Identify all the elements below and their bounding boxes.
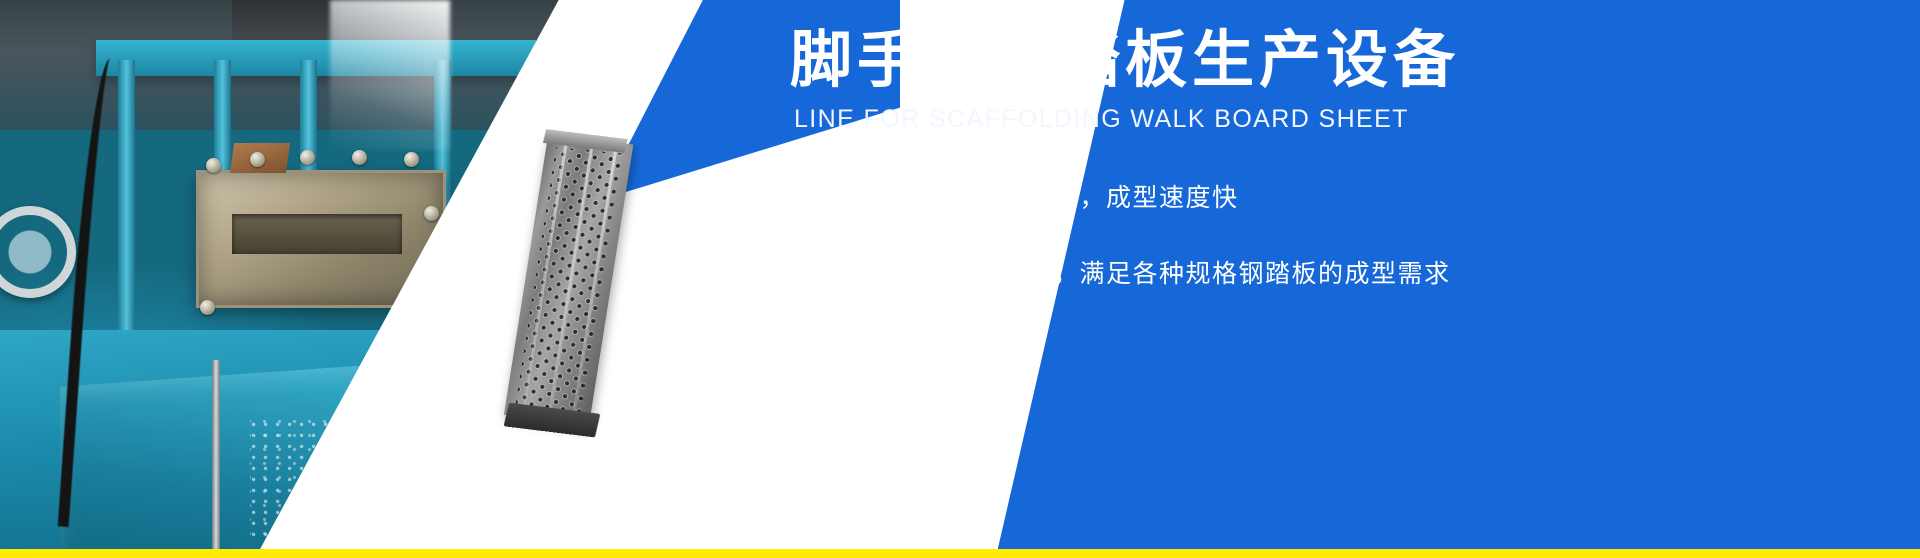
feature-text: 按照客户需求定制，满足各种规格钢踏板的成型需求 [841,254,1451,290]
machine-bolt [250,152,265,167]
square-outline-icon [794,185,817,208]
machine-die-slot [232,214,402,254]
learn-more-label: 点击了解 [834,359,950,389]
machine-bolt [352,150,367,165]
feature-item: 稳定性好，精密度高，成型速度快 [794,178,1870,214]
machine-light-glare [330,0,450,150]
accent-strip [0,549,1920,558]
banner-content: 脚手架钢踏板生产设备 LINE FOR SCAFFOLDING WALK BOA… [790,26,1870,391]
machine-bolt [300,150,315,165]
feature-item: 按照客户需求定制，满足各种规格钢踏板的成型需求 [794,254,1870,290]
learn-more-link[interactable]: 点击了解> > [834,352,1017,391]
promo-banner: 脚手架钢踏板生产设备 LINE FOR SCAFFOLDING WALK BOA… [0,0,1920,558]
arrow-right-icon: > > [960,359,1017,389]
square-outline-icon [794,261,817,284]
banner-title: 脚手架钢踏板生产设备 [790,26,1870,95]
machine-bolt [404,152,419,167]
machine-bolt [200,300,215,315]
machine-bolt [424,206,439,221]
machine-bolt [206,158,221,173]
banner-subtitle: LINE FOR SCAFFOLDING WALK BOARD SHEET [794,105,1870,134]
machine-post [118,60,135,360]
feature-list: 稳定性好，精密度高，成型速度快 按照客户需求定制，满足各种规格钢踏板的成型需求 [794,178,1870,290]
machine-threaded-rod [212,360,220,550]
feature-text: 稳定性好，精密度高，成型速度快 [841,178,1239,214]
